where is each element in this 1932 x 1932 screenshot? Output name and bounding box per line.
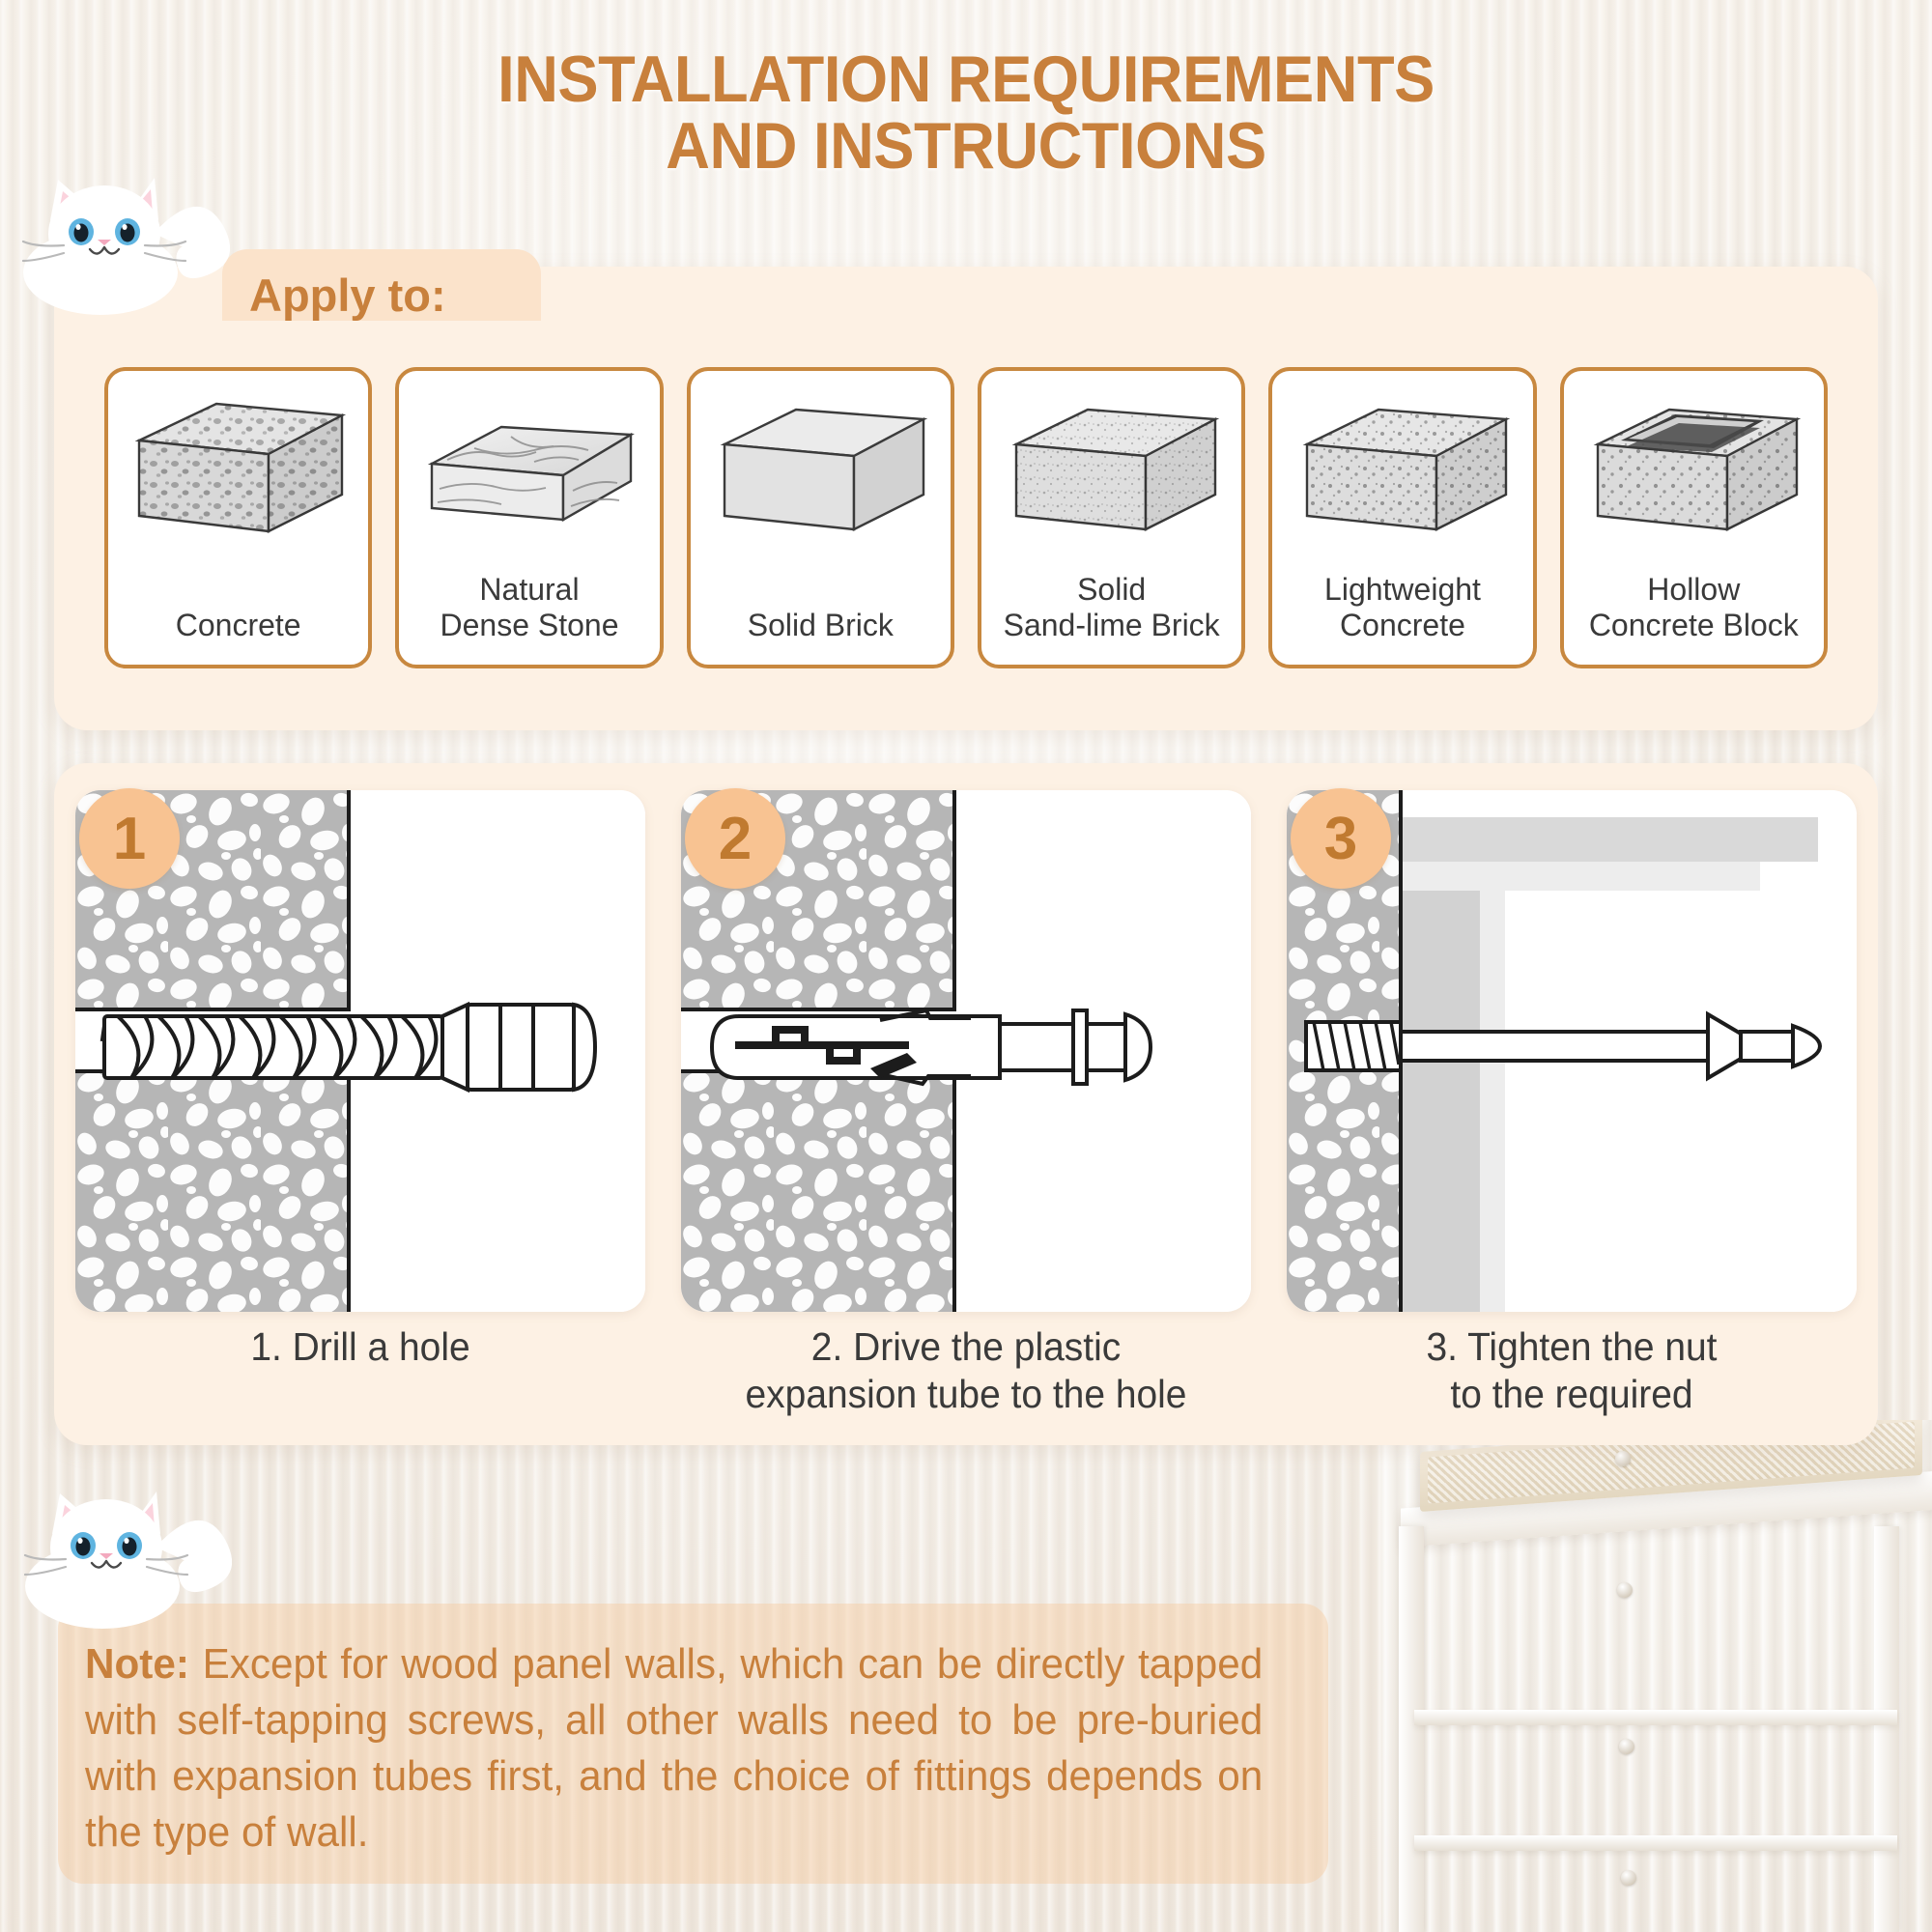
material-label: Lightweight Concrete bbox=[1324, 572, 1481, 653]
material-label: Solid Sand-lime Brick bbox=[1004, 572, 1220, 653]
material-label: Solid Brick bbox=[748, 608, 894, 653]
apply-to-label: Apply to: bbox=[249, 272, 446, 318]
note-text: Note: Except for wood panel walls, which… bbox=[85, 1636, 1263, 1861]
page-title: INSTALLATION REQUIREMENTS AND INSTRUCTIO… bbox=[68, 46, 1864, 181]
step-2: 2 2. Drive the plastic expansion tube to… bbox=[681, 790, 1251, 1312]
photo-left-post bbox=[1399, 1526, 1424, 1932]
sand-lime-brick-icon bbox=[989, 386, 1234, 556]
step-3: 3 3. Tighten the nut to the required bbox=[1287, 790, 1857, 1312]
note-body: Except for wood panel walls, which can b… bbox=[85, 1640, 1263, 1856]
step-1-badge: 1 bbox=[79, 788, 180, 889]
step-2-badge: 2 bbox=[685, 788, 785, 889]
material-label: Concrete bbox=[176, 608, 301, 653]
photo-right-post bbox=[1874, 1526, 1899, 1932]
lightweight-concrete-icon bbox=[1280, 386, 1524, 556]
material-card-sand-lime-brick[interactable]: Solid Sand-lime Brick bbox=[978, 367, 1245, 668]
photo-screw bbox=[1619, 1739, 1634, 1754]
material-card-hollow-concrete-block[interactable]: Hollow Concrete Block bbox=[1560, 367, 1828, 668]
material-card-concrete[interactable]: Concrete bbox=[104, 367, 372, 668]
note-label: Note: bbox=[85, 1640, 189, 1688]
material-card-solid-brick[interactable]: Solid Brick bbox=[687, 367, 954, 668]
material-card-lightweight-concrete[interactable]: Lightweight Concrete bbox=[1268, 367, 1536, 668]
step-1: 1 1. Drill a hole bbox=[75, 790, 645, 1312]
cat-illustration-bottom bbox=[10, 1459, 232, 1633]
page-title-line-2: AND INSTRUCTIONS bbox=[68, 113, 1864, 180]
photo-screw bbox=[1617, 1582, 1633, 1598]
steps-panel: 1 1. Drill a hole bbox=[54, 763, 1878, 1445]
natural-stone-icon bbox=[407, 386, 651, 556]
step-3-badge: 3 bbox=[1291, 788, 1391, 889]
product-photo bbox=[1381, 1420, 1932, 1932]
material-label: Hollow Concrete Block bbox=[1589, 572, 1799, 653]
hollow-concrete-block-icon bbox=[1572, 386, 1816, 556]
concrete-block-icon bbox=[116, 386, 360, 556]
step-1-caption: 1. Drill a hole bbox=[90, 1323, 632, 1371]
photo-rail-upper bbox=[1414, 1710, 1897, 1725]
cat-illustration-top bbox=[8, 145, 230, 319]
photo-rail-lower bbox=[1414, 1835, 1897, 1851]
material-label: Natural Dense Stone bbox=[440, 572, 618, 653]
material-card-list: Concrete bbox=[54, 367, 1878, 668]
solid-brick-icon bbox=[698, 386, 943, 556]
page-title-line-1: INSTALLATION REQUIREMENTS bbox=[68, 46, 1864, 113]
photo-screw bbox=[1615, 1451, 1631, 1466]
material-card-natural-dense-stone[interactable]: Natural Dense Stone bbox=[395, 367, 663, 668]
step-2-caption: 2. Drive the plastic expansion tube to t… bbox=[696, 1323, 1237, 1418]
photo-screw bbox=[1621, 1870, 1636, 1886]
step-3-caption: 3. Tighten the nut to the required bbox=[1301, 1323, 1843, 1418]
